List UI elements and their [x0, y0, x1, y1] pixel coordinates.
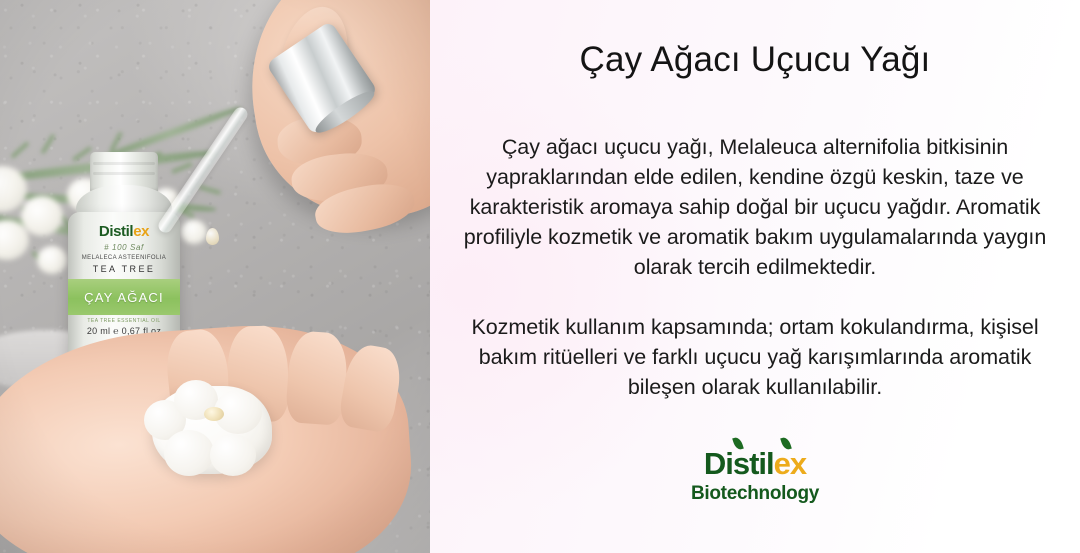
bottle-label-green-band: ÇAY AĞACI — [68, 279, 180, 315]
description-paragraph-1: Çay ağacı uçucu yağı, Melaleuca alternif… — [451, 132, 1059, 282]
cream-blob — [152, 386, 272, 474]
bottle-brand-dark: Distil — [99, 223, 133, 240]
brand-logo-wordmark: Distilex — [704, 448, 806, 479]
bottle-label-script: # 100 Saf — [68, 243, 180, 252]
page-title: Çay Ağacı Uçucu Yağı — [580, 40, 931, 80]
oil-droplet — [206, 228, 219, 245]
brand-logo-accent-text: ex — [774, 446, 806, 481]
description-block: Çay ağacı uçucu yağı, Melaleuca alternif… — [451, 132, 1059, 402]
bottle-label-english-name: TEA TREE — [68, 264, 180, 274]
brand-logo-subtitle: Biotechnology — [691, 484, 819, 503]
info-panel: Çay Ağacı Uçucu Yağı Çay ağacı uçucu yağ… — [430, 0, 1080, 553]
brand-logo-dark-text: Distil — [704, 446, 774, 481]
bottle-label-subline: TEA TREE ESSENTIAL OIL — [68, 318, 180, 324]
description-paragraph-2: Kozmetik kullanım kapsamında; ortam koku… — [451, 312, 1059, 402]
brand-logo: Distilex Biotechnology — [691, 448, 819, 503]
bottle-label-turkish-name: ÇAY AĞACI — [84, 290, 164, 305]
product-photo: Distilex # 100 Saf MELALECA ASTEENIFOLIA… — [0, 0, 430, 553]
cream-oil-droplet — [204, 407, 224, 421]
bottle-brand-accent: ex — [133, 223, 149, 240]
product-info-card: Distilex # 100 Saf MELALECA ASTEENIFOLIA… — [0, 0, 1080, 553]
bottle-label-latin-name: MELALECA ASTEENIFOLIA — [68, 255, 180, 261]
